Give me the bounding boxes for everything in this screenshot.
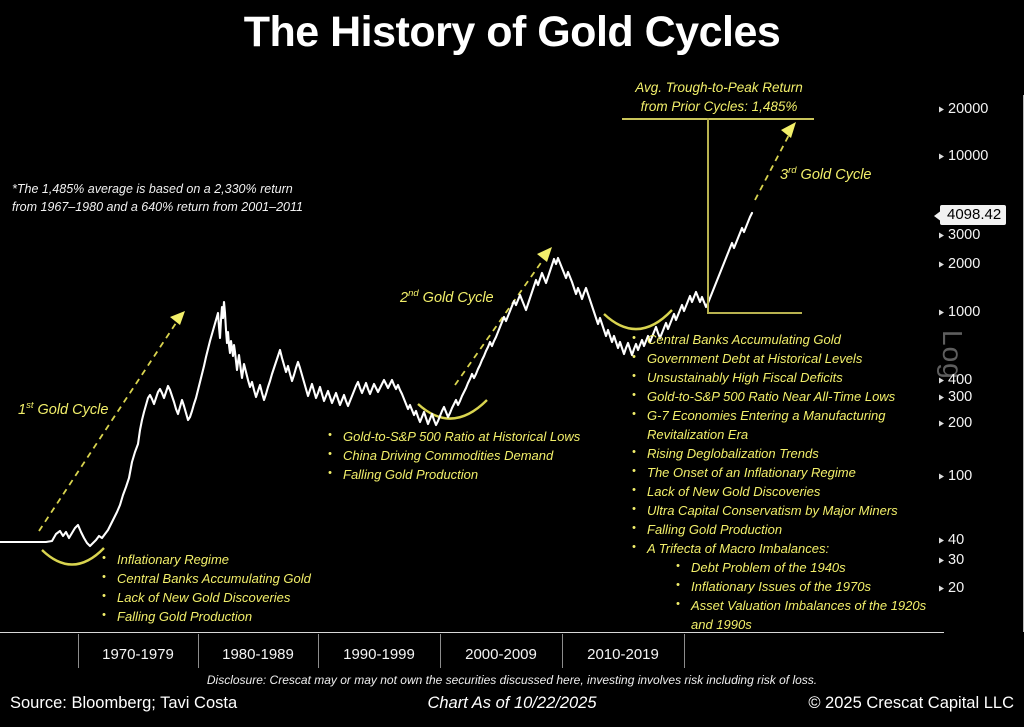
y-tick-marker	[939, 262, 944, 268]
y-tick-label: 400	[948, 372, 972, 388]
cycle-3-number: 3	[780, 167, 788, 183]
y-tick-label: 20000	[948, 101, 988, 117]
bullet-item: Rising Deglobalization Trends	[630, 444, 940, 463]
bullet-item: Gold-to-S&P 500 Ratio at Historical Lows	[326, 427, 626, 446]
trend-arrow-cycle2-line	[455, 257, 545, 385]
cycle-2-number: 2	[400, 290, 408, 306]
cycle-1-number: 1	[18, 402, 26, 418]
disclosure-text: Disclosure: Crescat may or may not own t…	[0, 673, 1024, 687]
bullet-item: Central Banks Accumulating Gold	[630, 330, 940, 349]
copyright-text: © 2025 Crescat Capital LLC	[808, 694, 1014, 713]
bullet-item: Asset Valuation Imbalances of the 1920s …	[674, 596, 940, 634]
trough-arc-cycle3	[604, 310, 672, 329]
x-axis-label-1980s: 1980-1989	[198, 646, 318, 663]
cycle-1-text: Gold Cycle	[33, 402, 108, 418]
trend-arrow-cycle1-line	[39, 320, 178, 531]
bullet-item: Debt Problem of the 1940s	[674, 558, 940, 577]
y-tick-label: 20	[948, 580, 964, 596]
x-axis-separator	[684, 634, 685, 668]
avg-return-line-1: Avg. Trough-to-Peak Return	[604, 78, 834, 97]
bullet-item: Falling Gold Production	[100, 607, 400, 626]
y-tick-label: 1000	[948, 304, 980, 320]
y-tick-label: 100	[948, 468, 972, 484]
x-axis-label-1970s: 1970-1979	[78, 646, 198, 663]
bullet-item: Falling Gold Production	[630, 520, 940, 539]
bullet-item: Lack of New Gold Discoveries	[100, 588, 400, 607]
cycle-3-ordinal-suffix: rd	[788, 165, 796, 176]
x-axis-label-2000s: 2000-2009	[440, 646, 562, 663]
cycle-2-ordinal-suffix: nd	[408, 288, 419, 299]
cycle-1-label: 1st Gold Cycle	[18, 400, 108, 418]
avg-return-horizontal-line	[707, 312, 802, 314]
bullet-item: Gold-to-S&P 500 Ratio Near All-Time Lows	[630, 387, 940, 406]
gold-cycles-chart: The History of Gold Cycles *The 1,485% a…	[0, 0, 1024, 727]
cycle-3-text: Gold Cycle	[797, 167, 872, 183]
cycle-3-bullets: Central Banks Accumulating GoldGovernmen…	[630, 330, 940, 558]
avg-return-underline	[622, 118, 814, 120]
cycle-2-text: Gold Cycle	[419, 290, 494, 306]
cycle-3-sub-bullets: Debt Problem of the 1940sInflationary Is…	[630, 558, 940, 634]
y-tick-marker	[939, 310, 944, 316]
trend-arrow-cycle1-head	[170, 311, 185, 325]
cycle-2-label: 2nd Gold Cycle	[400, 288, 494, 306]
cycle-3-label: 3rd Gold Cycle	[780, 165, 871, 183]
trough-arc-cycle1	[42, 548, 104, 565]
bullet-item: Lack of New Gold Discoveries	[630, 482, 940, 501]
bullet-item: Government Debt at Historical Levels	[630, 349, 940, 368]
bullet-item: Inflationary Issues of the 1970s	[674, 577, 940, 596]
y-tick-label: 3000	[948, 227, 980, 243]
bullet-item: Falling Gold Production	[326, 465, 626, 484]
cycle-3-bullet-list: Central Banks Accumulating GoldGovernmen…	[630, 330, 940, 634]
bullet-item: A Trifecta of Macro Imbalances:	[630, 539, 940, 558]
bullet-item: Inflationary Regime	[100, 550, 400, 569]
y-tick-label: 2000	[948, 256, 980, 272]
cycle-1-bullet-list: Inflationary RegimeCentral Banks Accumul…	[100, 550, 400, 626]
bullet-item: The Onset of an Inflationary Regime	[630, 463, 940, 482]
avg-return-annotation: Avg. Trough-to-Peak Return from Prior Cy…	[604, 78, 834, 116]
y-tick-marker	[939, 154, 944, 160]
avg-return-vertical-line	[707, 118, 709, 313]
y-tick-marker	[939, 233, 944, 239]
avg-return-line-2: from Prior Cycles: 1,485%	[604, 97, 834, 116]
trend-arrow-cycle2-head	[537, 247, 552, 262]
y-tick-label: 10000	[948, 148, 988, 164]
last-price-badge: 4098.42	[940, 205, 1006, 225]
bullet-item: G-7 Economies Entering a Manufacturing R…	[630, 406, 940, 444]
y-tick-label: 200	[948, 415, 972, 431]
y-tick-label: 30	[948, 552, 964, 568]
x-axis-label-1990s: 1990-1999	[318, 646, 440, 663]
bullet-item: Central Banks Accumulating Gold	[100, 569, 400, 588]
bullet-item: Ultra Capital Conservatism by Major Mine…	[630, 501, 940, 520]
bullet-item: China Driving Commodities Demand	[326, 446, 626, 465]
y-tick-label: 300	[948, 389, 972, 405]
cycle-2-bullet-list: Gold-to-S&P 500 Ratio at Historical Lows…	[326, 427, 626, 484]
y-tick-label: 40	[948, 532, 964, 548]
bullet-item: Unsustainably High Fiscal Deficits	[630, 368, 940, 387]
x-axis-label-2010s: 2010-2019	[562, 646, 684, 663]
y-tick-marker	[939, 107, 944, 113]
trend-arrow-cycle3-head	[781, 122, 796, 138]
cycle-1-bullets: Inflationary RegimeCentral Banks Accumul…	[100, 550, 400, 626]
cycle-2-bullets: Gold-to-S&P 500 Ratio at Historical Lows…	[326, 427, 626, 484]
